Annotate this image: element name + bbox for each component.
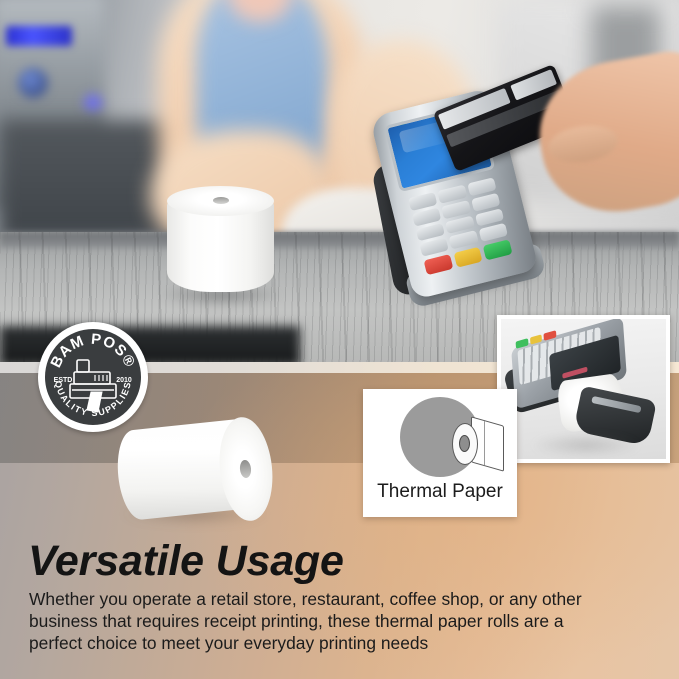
thermal-paper-feature-card: Thermal Paper <box>363 389 517 517</box>
product-marketing-image: BAM POS® QUALITY SUPPLIES ESTD 2010 <box>0 0 679 679</box>
feature-card-label: Thermal Paper <box>363 481 517 503</box>
counter-edge <box>0 232 679 248</box>
feature-icon-circle <box>400 397 480 477</box>
hero-photo <box>0 0 679 362</box>
espresso-display-icon <box>6 26 72 46</box>
surface-reflection <box>531 433 641 457</box>
receipt-printer-inset-photo <box>497 315 670 463</box>
badge-estd-text: ESTD <box>54 377 73 384</box>
badge-year-text: 2010 <box>116 377 132 384</box>
roll-core-hole <box>213 197 229 204</box>
thermal-paper-roll-lying <box>118 417 278 522</box>
badge-artwork: BAM POS® QUALITY SUPPLIES ESTD 2010 <box>38 322 148 432</box>
page-title: Versatile Usage <box>28 537 344 586</box>
lid-tear-bar <box>591 396 641 413</box>
inset-photo-image <box>501 319 666 459</box>
paper-roll-icon <box>452 419 504 471</box>
blue-bokeh-light <box>82 92 104 114</box>
page-description: Whether you operate a retail store, rest… <box>29 588 621 654</box>
paper-roll-core <box>459 435 470 452</box>
espresso-knob-icon <box>18 68 48 98</box>
thermal-paper-roll-standing <box>167 186 274 298</box>
badge-top-text: BAM POS® <box>47 331 138 371</box>
brand-logo-badge: BAM POS® QUALITY SUPPLIES ESTD 2010 <box>38 322 148 432</box>
